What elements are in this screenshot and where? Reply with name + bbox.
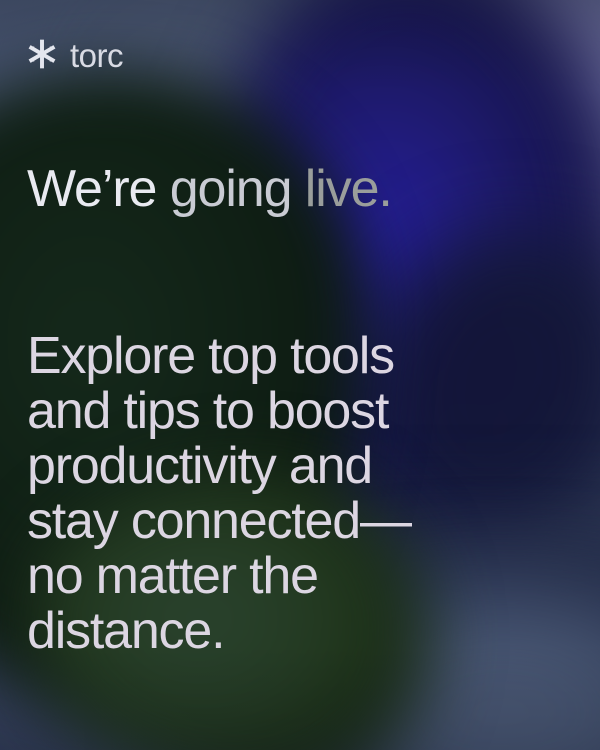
- brand-wordmark: torc: [70, 39, 123, 72]
- body-line: no matter the: [27, 549, 557, 604]
- promo-canvas: torc We’re going live. Explore top tools…: [0, 0, 600, 750]
- body-line: productivity and: [27, 439, 557, 494]
- body-line: Explore top tools: [27, 329, 557, 384]
- headline-segment-2: going: [170, 160, 305, 218]
- promo-content: torc We’re going live. Explore top tools…: [0, 0, 600, 750]
- headline-segment-3: live.: [305, 160, 392, 218]
- body-copy: Explore top tools and tips to boost prod…: [27, 329, 557, 659]
- brand-logo-lockup: torc: [27, 34, 574, 74]
- body-line: stay connected—: [27, 494, 557, 549]
- headline-segment-1: We’re: [27, 160, 170, 218]
- headline: We’re going live.: [27, 163, 574, 216]
- torc-asterisk-snowflake-icon: [27, 39, 57, 69]
- body-line: distance.: [27, 604, 557, 659]
- body-line: and tips to boost: [27, 384, 557, 439]
